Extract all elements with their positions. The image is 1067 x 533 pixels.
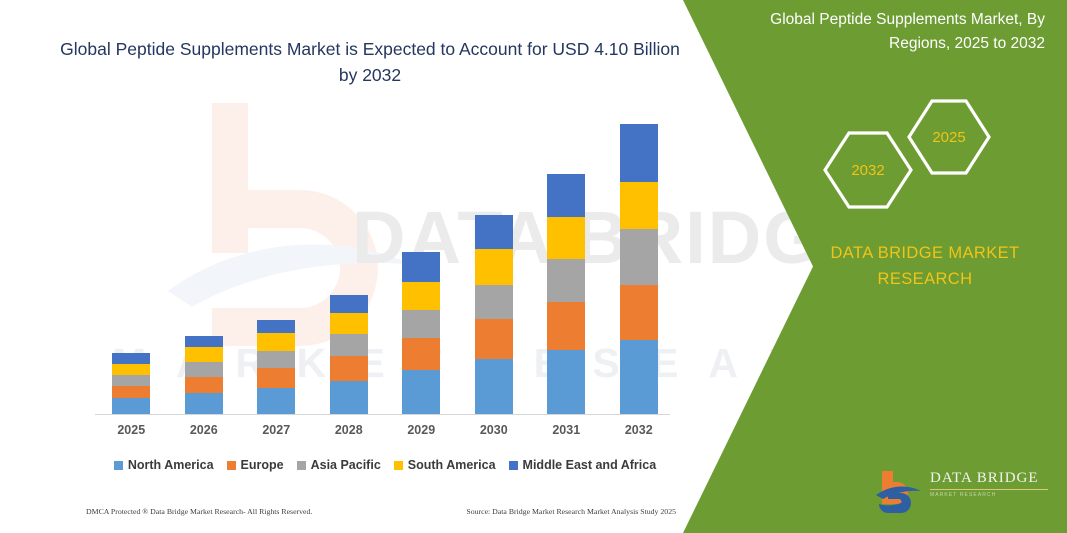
bar-segment	[402, 310, 440, 338]
x-axis-label-2028: 2028	[313, 423, 385, 437]
bar-segment	[112, 386, 150, 398]
bar-segment	[547, 259, 585, 302]
bar-segment	[257, 320, 295, 333]
bar-segment	[112, 353, 150, 364]
bar-segment	[475, 249, 513, 285]
bar-segment	[547, 302, 585, 350]
legend-label: South America	[408, 458, 496, 472]
x-axis-label-2026: 2026	[168, 423, 240, 437]
logo-divider	[930, 489, 1048, 490]
bar-2031[interactable]	[547, 174, 585, 415]
bar-segment	[620, 182, 658, 229]
bar-segment	[620, 340, 658, 415]
chart-title: Global Peptide Supplements Market is Exp…	[60, 36, 680, 88]
bar-segment	[402, 282, 440, 310]
legend-label: Middle East and Africa	[523, 458, 657, 472]
bar-2026[interactable]	[185, 336, 223, 415]
brand-name: DATA BRIDGE MARKET RESEARCH	[790, 240, 1060, 292]
hex-badge-2025-label: 2025	[932, 129, 965, 146]
x-axis-labels: 20252026202720282029203020312032	[95, 423, 675, 445]
hex-badge-2025: 2025	[906, 98, 992, 176]
bar-2029[interactable]	[402, 252, 440, 415]
bar-segment	[547, 217, 585, 258]
bar-segment	[547, 174, 585, 217]
bar-segment	[402, 338, 440, 370]
bar-segment	[620, 229, 658, 285]
legend-swatch	[227, 461, 236, 470]
legend-label: Asia Pacific	[311, 458, 381, 472]
infographic-root: DATA BRIDGE M A R K E T R E S E A R C H …	[0, 0, 1067, 533]
bar-segment	[112, 364, 150, 375]
bar-segment	[257, 388, 295, 415]
legend-swatch	[297, 461, 306, 470]
chart-legend: North AmericaEuropeAsia PacificSouth Ame…	[95, 455, 675, 475]
data-bridge-logo-mark	[874, 469, 926, 513]
bar-segment	[402, 370, 440, 415]
bar-segment	[185, 347, 223, 362]
bar-segment	[257, 351, 295, 368]
bar-segment	[330, 356, 368, 381]
hex-badge-2032: 2032	[822, 130, 914, 210]
x-axis-label-2029: 2029	[385, 423, 457, 437]
bar-2025[interactable]	[112, 353, 150, 415]
logo-sub-text: MARKET RESEARCH	[930, 492, 1054, 498]
legend-swatch	[394, 461, 403, 470]
legend-item[interactable]: North America	[114, 458, 214, 472]
legend-label: North America	[128, 458, 214, 472]
bar-2027[interactable]	[257, 320, 295, 415]
bar-2028[interactable]	[330, 295, 368, 415]
bar-segment	[475, 319, 513, 359]
x-axis-label-2027: 2027	[240, 423, 312, 437]
logo-main-text: DATA BRIDGE	[930, 470, 1054, 487]
legend-item[interactable]: Middle East and Africa	[509, 458, 657, 472]
bar-segment	[257, 333, 295, 350]
legend-label: Europe	[241, 458, 284, 472]
bar-segment	[547, 350, 585, 415]
x-axis-label-2030: 2030	[458, 423, 530, 437]
legend-item[interactable]: South America	[394, 458, 496, 472]
hex-badge-2032-label: 2032	[851, 162, 884, 179]
legend-item[interactable]: Asia Pacific	[297, 458, 381, 472]
bar-segment	[185, 336, 223, 347]
bar-segment	[620, 124, 658, 182]
footer-copyright: DMCA Protected ® Data Bridge Market Rese…	[86, 507, 312, 516]
data-bridge-logo: DATA BRIDGE MARKET RESEARCH	[874, 468, 1054, 514]
x-axis-line	[95, 414, 670, 415]
legend-swatch	[509, 461, 518, 470]
x-axis-label-2025: 2025	[95, 423, 167, 437]
bar-segment	[330, 381, 368, 415]
bar-segment	[475, 215, 513, 249]
stacked-bar-chart	[95, 120, 675, 415]
bar-segment	[185, 393, 223, 415]
footer: DMCA Protected ® Data Bridge Market Rese…	[86, 507, 676, 516]
bar-segment	[112, 398, 150, 415]
bar-segment	[330, 313, 368, 334]
bar-segment	[475, 359, 513, 415]
bar-segment	[620, 285, 658, 341]
bar-segment	[475, 285, 513, 319]
legend-swatch	[114, 461, 123, 470]
bar-2032[interactable]	[620, 124, 658, 415]
hexagon-badges: 2025 2032	[822, 98, 992, 208]
data-bridge-logo-text: DATA BRIDGE MARKET RESEARCH	[930, 470, 1054, 498]
bar-segment	[112, 375, 150, 385]
x-axis-label-2032: 2032	[603, 423, 675, 437]
legend-item[interactable]: Europe	[227, 458, 284, 472]
x-axis-label-2031: 2031	[530, 423, 602, 437]
bar-segment	[330, 295, 368, 314]
bar-segment	[185, 362, 223, 376]
bar-segment	[402, 252, 440, 282]
bar-2030[interactable]	[475, 215, 513, 415]
bar-segment	[330, 334, 368, 356]
bar-segment	[257, 368, 295, 388]
panel-title: Global Peptide Supplements Market, By Re…	[725, 8, 1045, 56]
footer-source: Source: Data Bridge Market Research Mark…	[466, 507, 676, 516]
bar-segment	[185, 377, 223, 393]
